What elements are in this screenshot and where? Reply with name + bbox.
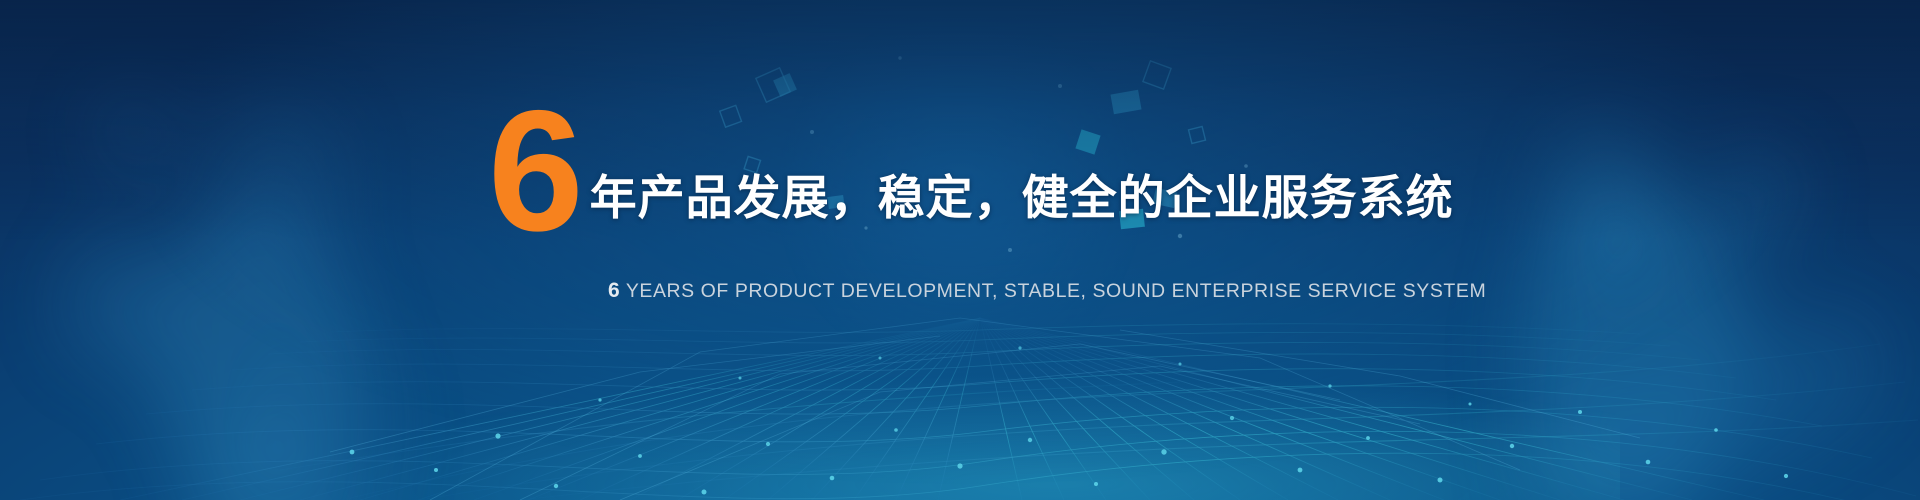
vignette-overlay <box>0 0 1920 500</box>
hero-banner: 6 年产品发展，稳定，健全的企业服务系统 6 YEARS OF PRODUCT … <box>0 0 1920 500</box>
